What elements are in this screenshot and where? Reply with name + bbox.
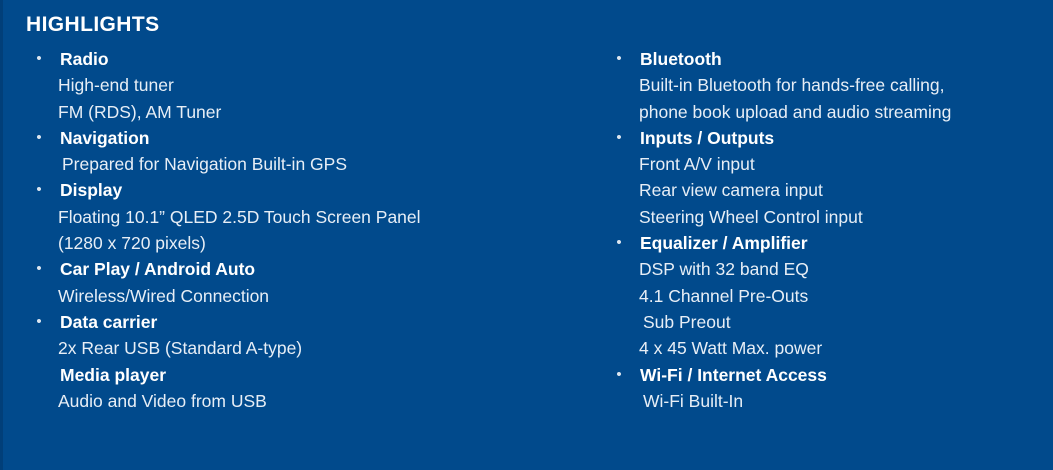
bullet-icon: •	[33, 46, 45, 72]
page-title: HIGHLIGHTS	[26, 12, 160, 37]
feature-detail-row: FM (RDS), AM Tuner	[26, 99, 586, 125]
feature-detail-text: FM (RDS), AM Tuner	[58, 99, 221, 125]
feature-detail-row: Wireless/Wired Connection	[26, 283, 586, 309]
feature-detail-row: Front A/V input	[606, 151, 1046, 177]
feature-detail-row: Rear view camera input	[606, 177, 1046, 203]
feature-group: •BluetoothBuilt-in Bluetooth for hands-f…	[606, 46, 1046, 125]
feature-detail-row: (1280 x 720 pixels)	[26, 230, 586, 256]
feature-title: Wi-Fi / Internet Access	[640, 362, 827, 388]
feature-detail-text: Steering Wheel Control input	[639, 204, 863, 230]
bullet-icon: •	[613, 230, 625, 256]
feature-group: •Data carrier2x Rear USB (Standard A-typ…	[26, 309, 586, 362]
feature-detail-text: High-end tuner	[58, 72, 174, 98]
feature-detail-text: 4.1 Channel Pre-Outs	[639, 283, 808, 309]
feature-title: Navigation	[60, 125, 149, 151]
bullet-icon: •	[613, 125, 625, 151]
feature-group: •DisplayFloating 10.1” QLED 2.5D Touch S…	[26, 177, 586, 256]
bullet-icon: •	[33, 177, 45, 203]
feature-detail-row: phone book upload and audio streaming	[606, 99, 1046, 125]
feature-heading-row: •Navigation	[26, 125, 586, 151]
feature-title: Media player	[60, 362, 166, 388]
feature-title: Equalizer / Amplifier	[640, 230, 808, 256]
highlights-column-left: •RadioHigh-end tunerFM (RDS), AM Tuner•N…	[26, 46, 586, 414]
feature-title: Car Play / Android Auto	[60, 256, 255, 282]
feature-detail-text: phone book upload and audio streaming	[639, 99, 951, 125]
feature-group: Media playerAudio and Video from USB	[26, 362, 586, 415]
feature-group: •Inputs / OutputsFront A/V inputRear vie…	[606, 125, 1046, 230]
feature-detail-row: Floating 10.1” QLED 2.5D Touch Screen Pa…	[26, 204, 586, 230]
highlights-columns: •RadioHigh-end tunerFM (RDS), AM Tuner•N…	[0, 46, 1053, 466]
feature-detail-text: (1280 x 720 pixels)	[58, 230, 206, 256]
feature-heading-row: •Inputs / Outputs	[606, 125, 1046, 151]
feature-detail-text: 2x Rear USB (Standard A-type)	[58, 335, 302, 361]
feature-title: Display	[60, 177, 122, 203]
feature-detail-row: 4 x 45 Watt Max. power	[606, 335, 1046, 361]
feature-detail-row: 2x Rear USB (Standard A-type)	[26, 335, 586, 361]
feature-detail-row: 4.1 Channel Pre-Outs	[606, 283, 1046, 309]
feature-group: •Wi-Fi / Internet AccessWi-Fi Built-In	[606, 362, 1046, 415]
highlights-column-right: •BluetoothBuilt-in Bluetooth for hands-f…	[606, 46, 1046, 414]
feature-detail-text: Rear view camera input	[639, 177, 823, 203]
feature-group: •RadioHigh-end tunerFM (RDS), AM Tuner	[26, 46, 586, 125]
feature-group: •Equalizer / AmplifierDSP with 32 band E…	[606, 230, 1046, 361]
feature-title: Data carrier	[60, 309, 157, 335]
feature-detail-text: Front A/V input	[639, 151, 755, 177]
feature-detail-row: Steering Wheel Control input	[606, 204, 1046, 230]
feature-detail-row: Sub Preout	[606, 309, 1046, 335]
feature-detail-text: 4 x 45 Watt Max. power	[639, 335, 822, 361]
feature-title: Radio	[60, 46, 109, 72]
bullet-icon: •	[33, 256, 45, 282]
feature-detail-row: Prepared for Navigation Built-in GPS	[26, 151, 586, 177]
feature-heading-row: •Car Play / Android Auto	[26, 256, 586, 282]
feature-group: •Car Play / Android AutoWireless/Wired C…	[26, 256, 586, 309]
feature-group: •NavigationPrepared for Navigation Built…	[26, 125, 586, 178]
bullet-icon: •	[33, 125, 45, 151]
feature-heading-row: •Bluetooth	[606, 46, 1046, 72]
feature-heading-row: •Radio	[26, 46, 586, 72]
feature-detail-text: Floating 10.1” QLED 2.5D Touch Screen Pa…	[58, 204, 421, 230]
feature-detail-text: Audio and Video from USB	[58, 388, 267, 414]
bullet-icon: •	[613, 46, 625, 72]
bullet-icon: •	[33, 309, 45, 335]
feature-title: Inputs / Outputs	[640, 125, 774, 151]
feature-detail-text: Prepared for Navigation Built-in GPS	[62, 151, 347, 177]
feature-detail-row: Audio and Video from USB	[26, 388, 586, 414]
feature-detail-row: High-end tuner	[26, 72, 586, 98]
highlights-slide: HIGHLIGHTS •RadioHigh-end tunerFM (RDS),…	[0, 0, 1053, 470]
feature-detail-text: Wi-Fi Built-In	[643, 388, 743, 414]
feature-detail-text: DSP with 32 band EQ	[639, 256, 809, 282]
feature-title: Bluetooth	[640, 46, 722, 72]
feature-heading-row: •Wi-Fi / Internet Access	[606, 362, 1046, 388]
feature-heading-row: Media player	[26, 362, 586, 388]
feature-detail-text: Sub Preout	[643, 309, 731, 335]
feature-detail-text: Built-in Bluetooth for hands-free callin…	[639, 72, 944, 98]
feature-detail-row: DSP with 32 band EQ	[606, 256, 1046, 282]
feature-detail-row: Wi-Fi Built-In	[606, 388, 1046, 414]
feature-detail-row: Built-in Bluetooth for hands-free callin…	[606, 72, 1046, 98]
feature-heading-row: •Display	[26, 177, 586, 203]
feature-detail-text: Wireless/Wired Connection	[58, 283, 269, 309]
feature-heading-row: •Equalizer / Amplifier	[606, 230, 1046, 256]
bullet-icon: •	[613, 362, 625, 388]
feature-heading-row: •Data carrier	[26, 309, 586, 335]
